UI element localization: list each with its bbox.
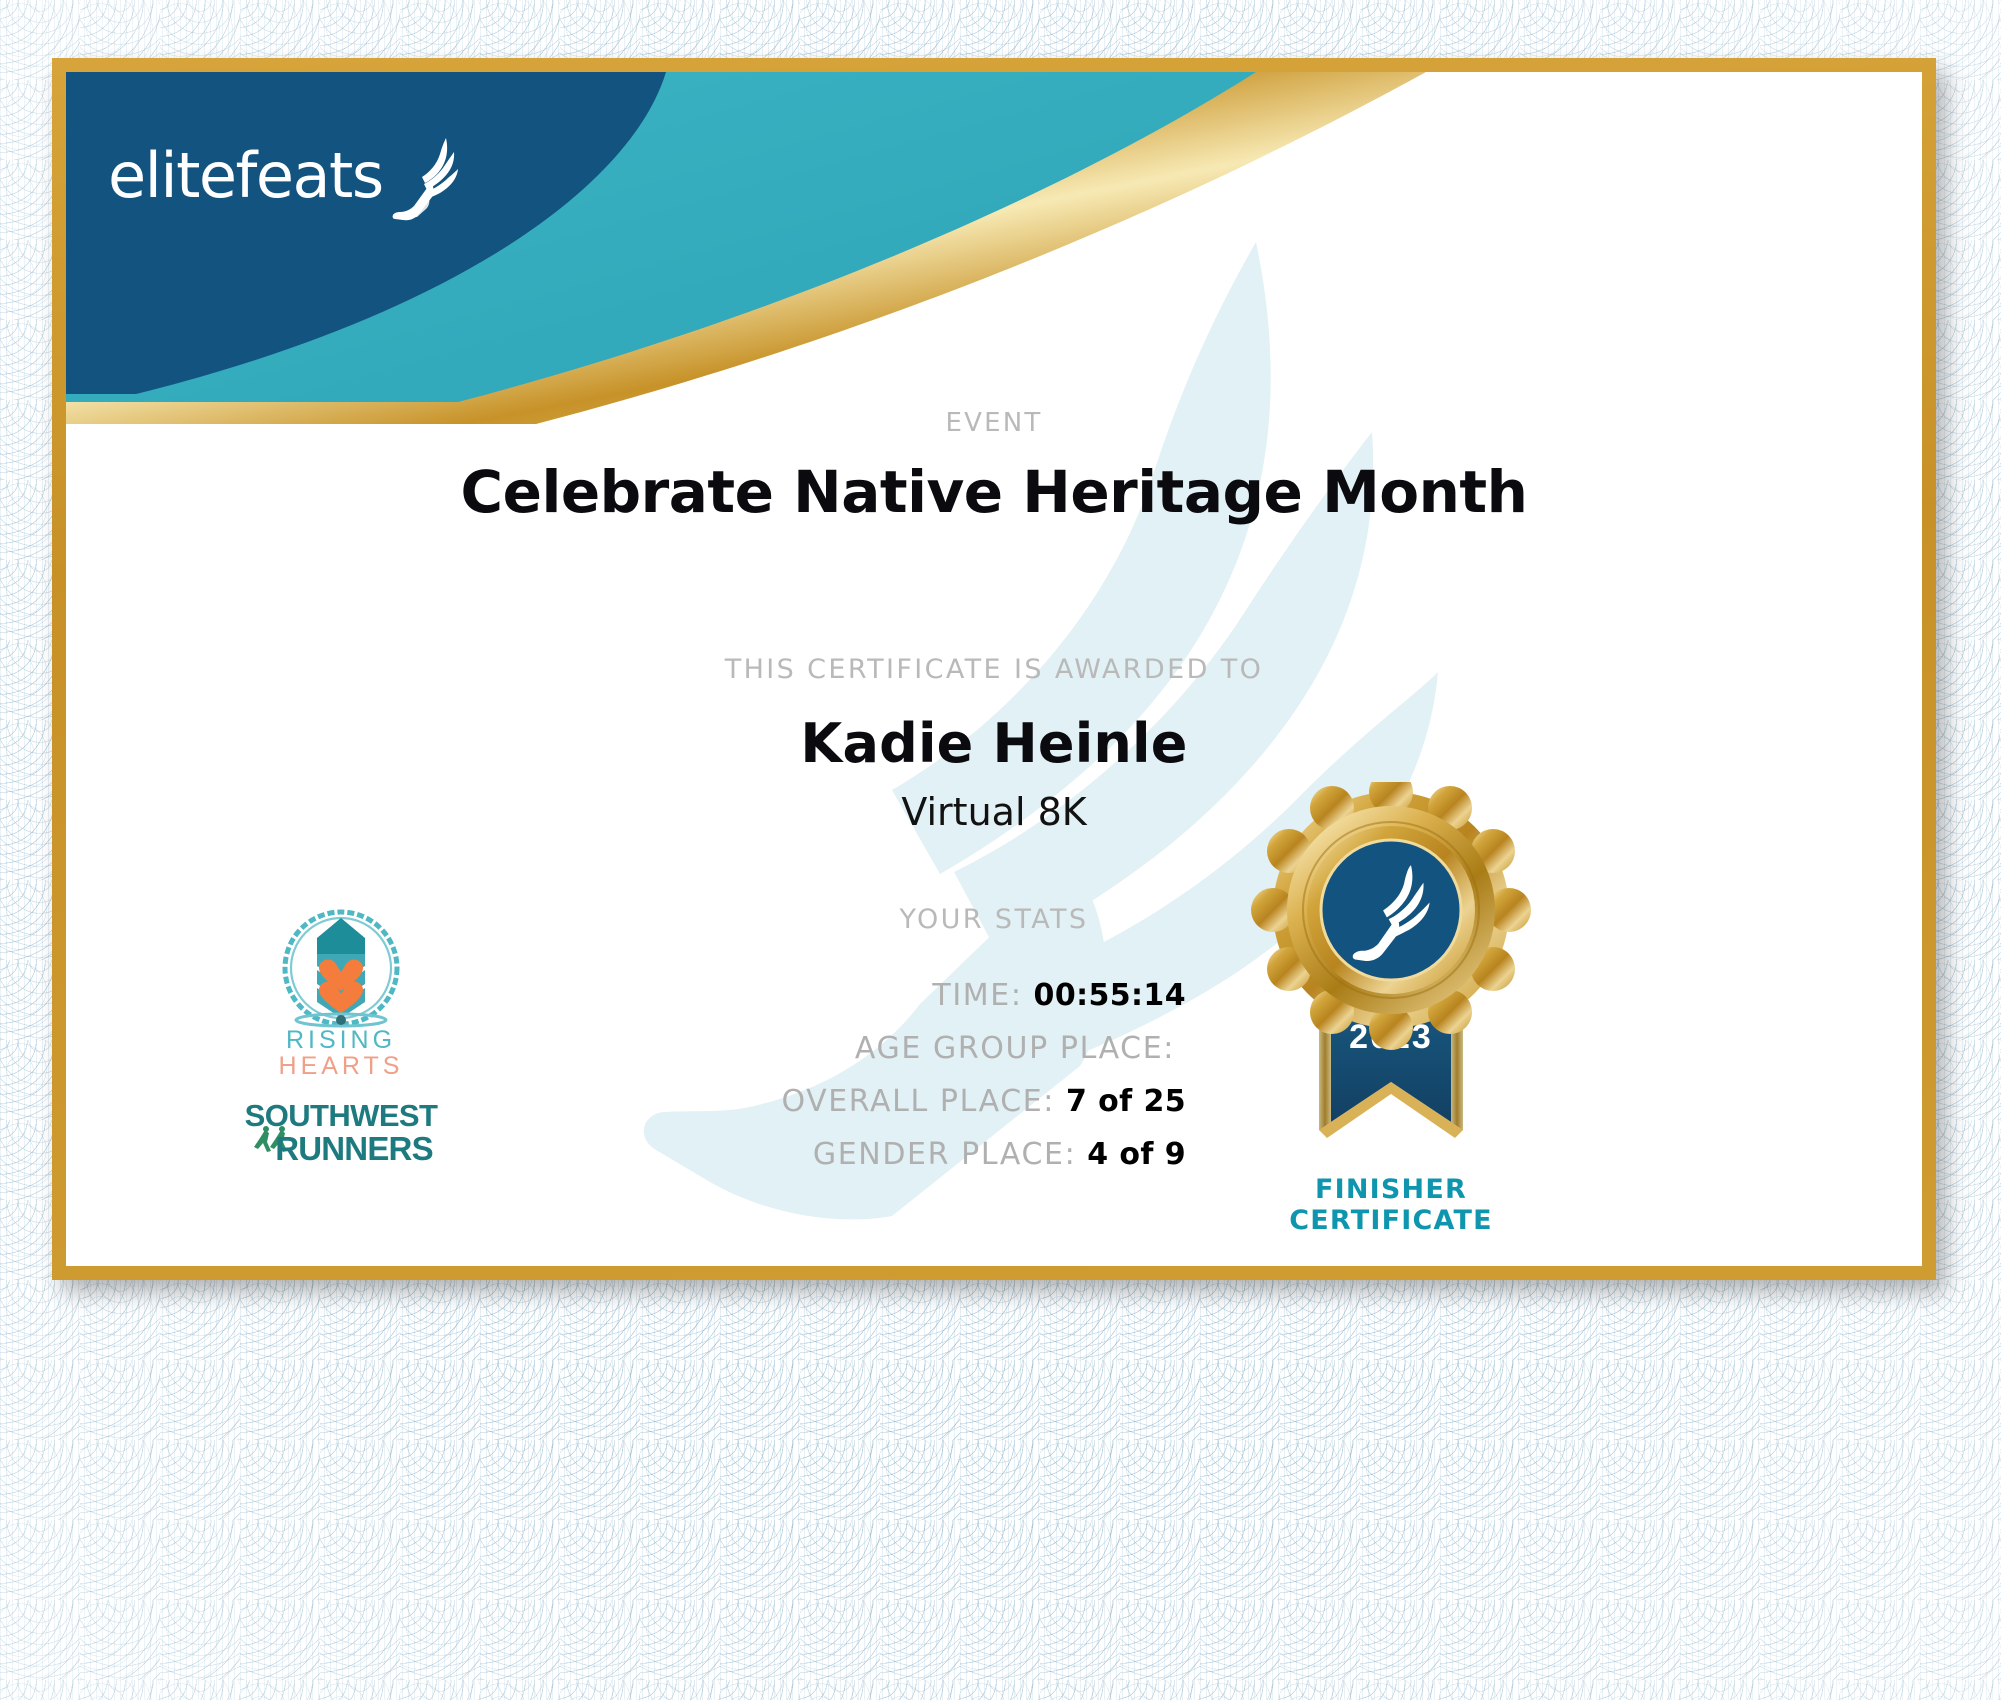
certificate-page: elitefeats: [0, 0, 2001, 1700]
awarded-to-label: THIS CERTIFICATE IS AWARDED TO: [66, 654, 1922, 685]
stat-key-overall-place: OVERALL PLACE:: [781, 1084, 1055, 1119]
event-label: EVENT: [66, 408, 1922, 438]
rising-hearts-logo-icon: RISING HEARTS: [248, 892, 434, 1082]
stat-value-overall-place: 7 of 25: [1066, 1084, 1186, 1119]
certificate-card-gold-border: elitefeats: [52, 58, 1936, 1280]
finisher-medal-seal: 2023: [1211, 782, 1571, 1242]
medal-caption-line2: CERTIFICATE: [1211, 1205, 1571, 1236]
stat-key-time: TIME:: [932, 978, 1022, 1013]
sponsor-logos: RISING HEARTS SOUTHWEST RUNNERS: [196, 892, 486, 1168]
svg-text:RUNNERS: RUNNERS: [275, 1130, 433, 1167]
winged-foot-icon: [389, 136, 461, 222]
certificate-content: EVENT Celebrate Native Heritage Month TH…: [66, 72, 1922, 1266]
awardee-distance: Virtual 8K: [66, 790, 1922, 834]
stat-value-gender-place: 4 of 9: [1087, 1137, 1186, 1172]
southwest-runners-logo-icon: SOUTHWEST RUNNERS: [234, 1096, 449, 1168]
medal-rosette: [1251, 782, 1531, 1050]
stat-key-age-group-place: AGE GROUP PLACE:: [855, 1031, 1175, 1066]
brand-logo: elitefeats: [108, 130, 461, 222]
stat-value-time: 00:55:14: [1034, 978, 1186, 1013]
certificate-card-inner: elitefeats: [66, 72, 1922, 1266]
svg-text:RISING: RISING: [286, 1026, 396, 1054]
stat-key-gender-place: GENDER PLACE:: [813, 1137, 1076, 1172]
medal-caption-line1: FINISHER: [1211, 1174, 1571, 1205]
svg-text:SOUTHWEST: SOUTHWEST: [244, 1098, 437, 1133]
medal-caption: FINISHER CERTIFICATE: [1211, 1174, 1571, 1236]
event-title: Celebrate Native Heritage Month: [66, 458, 1922, 526]
svg-text:HEARTS: HEARTS: [279, 1052, 404, 1080]
brand-wordmark: elitefeats: [108, 145, 383, 207]
medal-graphic: 2023: [1211, 782, 1571, 1182]
awardee-name: Kadie Heinle: [66, 712, 1922, 775]
